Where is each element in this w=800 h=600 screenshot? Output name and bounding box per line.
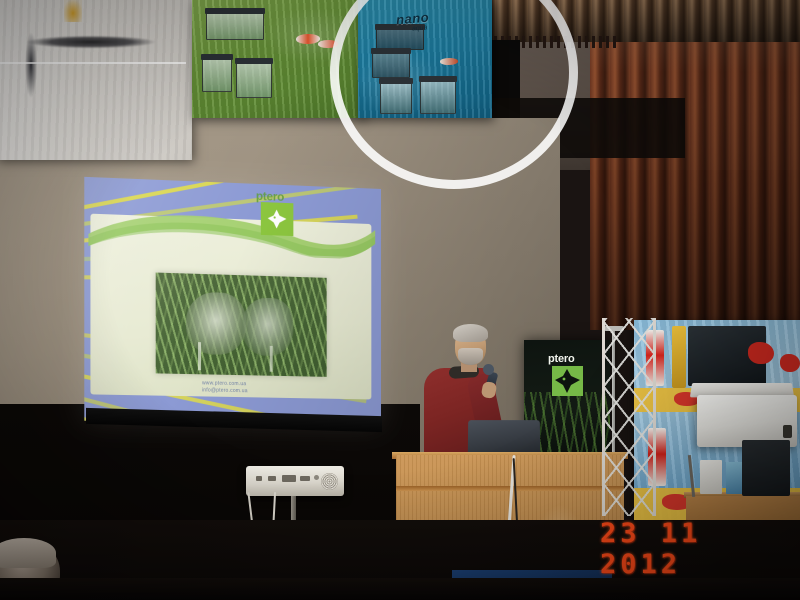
microphone-head: [483, 364, 494, 375]
angelfish-icon: [552, 366, 583, 396]
stage-curtain-right: [590, 0, 800, 330]
tank-lid: [235, 58, 273, 64]
audience-member-hair: [0, 538, 56, 568]
tank-lid: [201, 54, 233, 60]
frame-post: [653, 318, 656, 516]
presentation-laptop: [468, 420, 540, 456]
dark-equipment-box: [742, 440, 790, 496]
projector-vent-icon: [321, 473, 338, 490]
projection-screen: ptero www.ptero.com.ua info@ptero.com.ua: [84, 177, 381, 425]
tank-lid: [205, 8, 265, 14]
foreground-shadow-bar: [0, 578, 800, 600]
aquarium-image: [202, 58, 232, 92]
popup-display-frame: [602, 318, 656, 516]
splash-drip-icon: [18, 20, 44, 110]
rollup-logo-box: [552, 366, 583, 396]
product-package: [672, 326, 686, 388]
red-graphic-blob: [780, 354, 800, 372]
leaflet: [700, 460, 722, 494]
nano-banner-subword: aqua: [412, 24, 428, 32]
frame-post: [602, 318, 605, 516]
photograph-scene: nano aqua ptero: [0, 0, 800, 600]
screen-glare: [84, 177, 381, 425]
camera-datestamp: 23 11 2012: [600, 518, 800, 580]
banner-seam: [0, 62, 186, 64]
orange-fish-icon: [64, 0, 82, 22]
speaker-beard: [458, 348, 483, 365]
speaker-hair: [453, 324, 488, 342]
water-splash-banner: [0, 0, 192, 160]
rollup-brand-word: ptero: [548, 353, 575, 365]
aquarium-image: [206, 12, 264, 40]
aquarium-image: [236, 62, 272, 98]
video-projector: [246, 466, 344, 496]
koi-fish-icon: [296, 34, 320, 44]
red-graphic-blob: [748, 342, 774, 364]
lattice-structure: [602, 318, 656, 516]
printer-control: [783, 425, 792, 438]
